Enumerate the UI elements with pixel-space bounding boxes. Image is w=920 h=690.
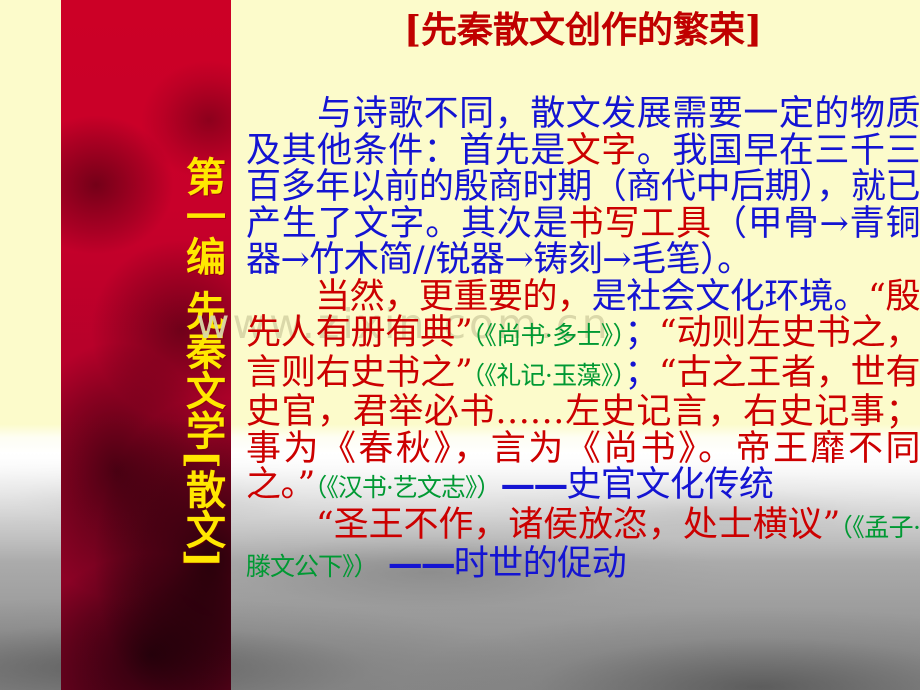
p3-conclusion: 时世的促动 [454,544,627,584]
p1-emphasis-wenzi: 文字 [566,131,637,171]
p2-conclusion: 史官文化传统 [566,465,773,505]
p2-seg2: 是社会文化环境。 [592,277,868,317]
p2-sep-2: ； [624,353,659,393]
p2-citation-liji: （《礼记·玉藻》） [472,361,624,390]
slide-content-area: [先秦散文创作的繁荣] 与诗歌不同，散文发展需要一定的物质及其他条件：首先是文字… [246,0,920,690]
p1-emphasis-shuxiegongju: 书写工具 [569,204,712,244]
p3-quote: “圣王不作，诸侯放恣，处士横议” [246,505,840,545]
p2-citation-hanshu: （《汉书·艺文志》） [315,473,500,502]
p2-dash: —— [500,464,566,505]
presentation-slide: 第一编 先秦文学[散文] www.zixin.com.cn [先秦散文创作的繁荣… [0,0,920,690]
p2-sep-1: ； [624,313,659,353]
paragraph-two: 当然，更重要的，是社会文化环境。“殷先人有册有典”（《尚书·多士》）；“动则左史… [246,279,920,507]
paragraph-one: 与诗歌不同，散文发展需要一定的物质及其他条件：首先是文字。我国早在三千三百多年以… [246,96,920,279]
paragraph-three: “圣王不作，诸侯放恣，处士横议”（《孟子·滕文公下》） ——时世的促动 [246,507,920,586]
slide-title: [先秦散文创作的繁荣] [246,8,920,52]
p2-citation-shangshu: （《尚书·多士》） [472,321,624,350]
p2-seg1: 当然，更重要的， [246,277,592,317]
p3-dash: —— [378,543,454,584]
banner-vertical-title: 第一编 先秦文学[散文] [61,62,231,662]
slide-body-text: 与诗歌不同，散文发展需要一定的物质及其他条件：首先是文字。我国早在三千三百多年以… [246,96,920,586]
